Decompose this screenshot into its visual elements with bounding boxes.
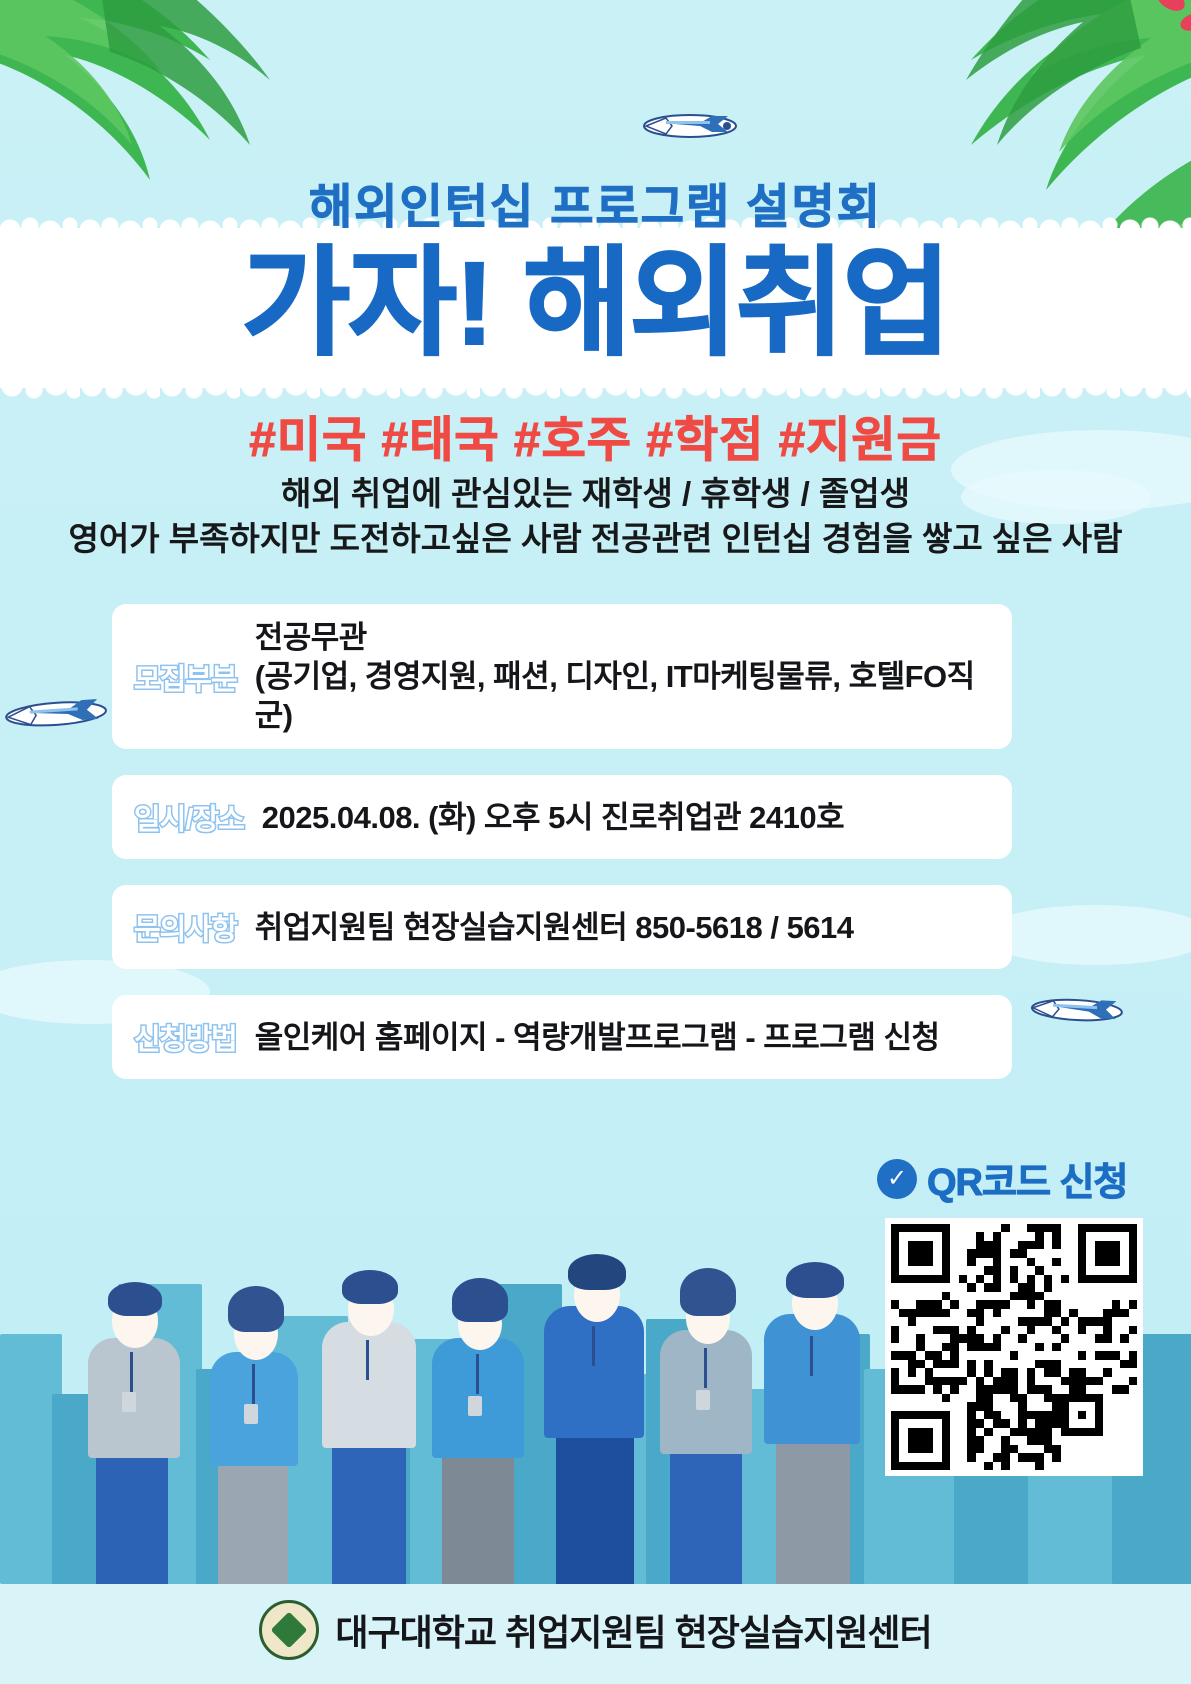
info-card-value-line1: 전공무관 [255,620,367,655]
footer: 대구대학교 취업지원팀 현장실습지원센터 [0,1600,1191,1660]
info-card-application-method: 신청방법 올인케어 홈페이지 - 역량개발프로그램 - 프로그램 신청 [112,995,1012,1079]
airplane-icon [1020,975,1133,1041]
info-card-label: 문의사항 [134,906,237,948]
airplane-icon [0,676,116,750]
hashtag-list: #미국 #태국 #호주 #학점 #지원금 [0,400,1191,470]
subtitle-block: 해외 취업에 관심있는 재학생 / 휴학생 / 졸업생 영어가 부족하지만 도전… [0,472,1191,562]
page-title: 가자! 해외취업 [0,245,1191,363]
subtitle-line-1: 해외 취업에 관심있는 재학생 / 휴학생 / 졸업생 [0,472,1191,517]
info-card-value: 올인케어 홈페이지 - 역량개발프로그램 - 프로그램 신청 [255,1018,940,1057]
info-card-value-line2: (공기업, 경영지원, 패션, 디자인, IT마케팅물류, 호텔FO직군) [255,657,994,735]
check-circle-icon: ✓ [877,1159,917,1199]
info-card-value: 전공무관 (공기업, 경영지원, 패션, 디자인, IT마케팅물류, 호텔FO직… [255,618,994,735]
qr-label: QR코드 신청 [927,1151,1127,1206]
info-card-contact: 문의사항 취업지원팀 현장실습지원센터 850-5618 / 5614 [112,885,1012,969]
cloud-decoration [981,905,1191,965]
qr-title-row: ✓ QR코드 신청 [877,1151,1145,1206]
info-card-list: 모집부분 전공무관 (공기업, 경영지원, 패션, 디자인, IT마케팅물류, … [112,604,1012,1105]
info-card-label: 일시/장소 [134,796,244,838]
qr-code-image[interactable] [885,1218,1143,1476]
subtitle-line-2: 영어가 부족하지만 도전하고싶은 사람 전공관련 인턴십 경험을 쌓고 싶은 사… [0,517,1191,562]
university-emblem-icon [259,1600,319,1660]
qr-section[interactable]: ✓ QR코드 신청 [885,1151,1145,1476]
info-card-recruitment: 모집부분 전공무관 (공기업, 경영지원, 패션, 디자인, IT마케팅물류, … [112,604,1012,749]
info-card-value: 2025.04.08. (화) 오후 5시 진로취업관 2410호 [262,798,844,837]
info-card-value: 취업지원팀 현장실습지원센터 850-5618 / 5614 [255,908,854,947]
airplane-icon [632,96,742,156]
info-card-label: 모집부분 [134,656,237,698]
page-headline: 해외인턴십 프로그램 설명회 [0,168,1191,237]
poster-canvas: 해외인턴십 프로그램 설명회 가자! 해외취업 #미국 #태국 #호주 #학점 … [0,0,1191,1684]
info-card-label: 신청방법 [134,1016,237,1058]
footer-organization: 대구대학교 취업지원팀 현장실습지원센터 [335,1604,931,1656]
info-card-datetime-location: 일시/장소 2025.04.08. (화) 오후 5시 진로취업관 2410호 [112,775,1012,859]
